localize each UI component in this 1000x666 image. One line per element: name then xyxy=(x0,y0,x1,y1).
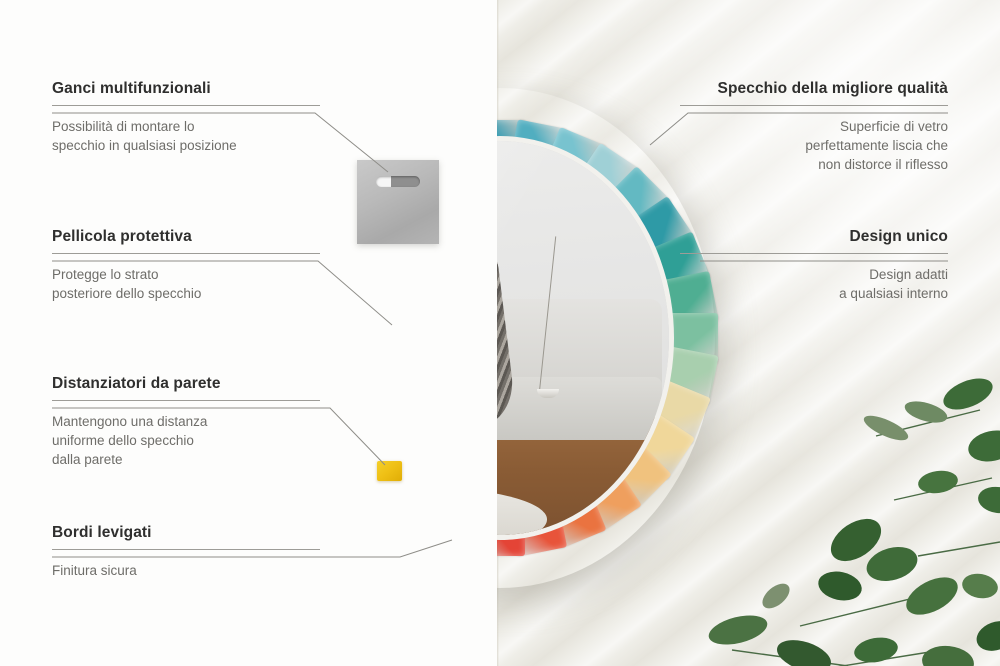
callout-heading: Distanziatori da parete xyxy=(52,375,320,393)
callout-body: Superficie di vetroperfettamente liscia … xyxy=(680,117,948,174)
callout-heading: Design unico xyxy=(680,228,948,246)
callout-heading: Specchio della migliore qualità xyxy=(680,80,948,98)
callout-heading: Pellicola protettiva xyxy=(52,228,320,246)
infographic-stage: Ganci multifunzionali Possibilità di mon… xyxy=(0,0,1000,666)
callout-body: Protegge lo stratoposteriore dello specc… xyxy=(52,265,320,303)
callout-rule xyxy=(52,400,320,401)
callout-heading: Bordi levigati xyxy=(52,524,320,542)
wall-bracket-hardware xyxy=(357,160,439,244)
callout-body: Finitura sicura xyxy=(52,561,320,580)
callout-ganci-multifunzionali: Ganci multifunzionali Possibilità di mon… xyxy=(52,80,320,155)
callout-rule xyxy=(680,105,948,106)
callout-design-unico: Design unico Design adattia qualsiasi in… xyxy=(680,228,948,303)
callout-pellicola-protettiva: Pellicola protettiva Protegge lo stratop… xyxy=(52,228,320,303)
callout-rule xyxy=(52,253,320,254)
wall-spacer-hardware xyxy=(377,461,402,481)
callout-bordi-levigati: Bordi levigati Finitura sicura xyxy=(52,524,320,580)
callout-rule xyxy=(52,105,320,106)
callout-body: Mantengono una distanzauniforme dello sp… xyxy=(52,412,320,469)
callout-distanziatori-da-parete: Distanziatori da parete Mantengono una d… xyxy=(52,375,320,469)
callout-rule xyxy=(52,549,320,550)
callout-specchio-della-migliore-qualita: Specchio della migliore qualità Superfic… xyxy=(680,80,948,174)
foliage-decoration xyxy=(680,350,1000,666)
callout-body: Design adattia qualsiasi interno xyxy=(680,265,948,303)
callout-rule xyxy=(680,253,948,254)
callout-body: Possibilità di montare lospecchio in qua… xyxy=(52,117,320,155)
callout-heading: Ganci multifunzionali xyxy=(52,80,320,98)
bracket-keyhole-slot xyxy=(376,176,420,187)
